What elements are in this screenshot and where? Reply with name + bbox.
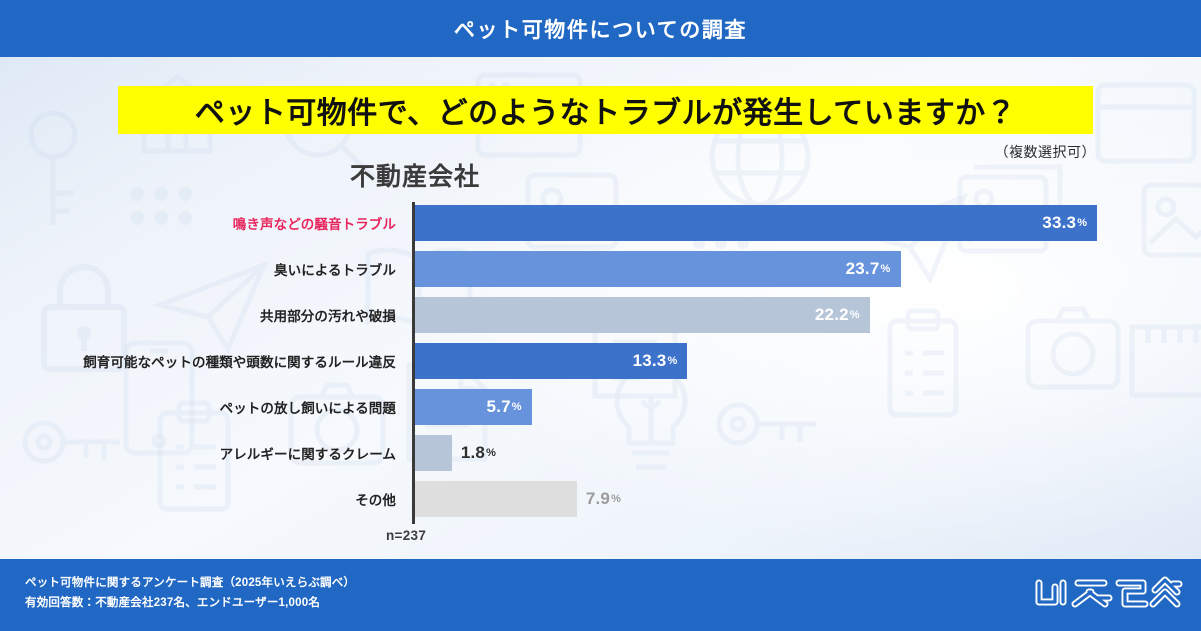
percent-sign: % bbox=[850, 309, 860, 321]
bar-value-number: 1.8 bbox=[461, 443, 485, 463]
percent-sign: % bbox=[881, 263, 891, 275]
bar-value-label: 13.3% bbox=[633, 343, 678, 379]
chart-row: 飼育可能なペットの種類や頭数に関するルール違反13.3% bbox=[0, 343, 1201, 379]
bar-value-number: 23.7 bbox=[846, 259, 880, 279]
bar: 22.2% bbox=[415, 297, 870, 333]
sample-size-label: n=237 bbox=[386, 528, 426, 543]
infographic-slide: ペット可物件についての調査 ペット可物件で、どのようなトラブルが発生していますか… bbox=[0, 0, 1201, 631]
chart-row: その他7.9% bbox=[0, 481, 1201, 517]
percent-sign: % bbox=[486, 447, 496, 459]
category-label: ペットの放し飼いによる問題 bbox=[220, 389, 396, 425]
chart-row: ペットの放し飼いによる問題5.7% bbox=[0, 389, 1201, 425]
bar-value-number: 5.7 bbox=[487, 397, 511, 417]
footer-line-2: 有効回答数：不動産会社237名、エンドユーザー1,000名 bbox=[25, 593, 355, 613]
footer-line-1: ペット可物件に関するアンケート調査（2025年いえらぶ調べ） bbox=[25, 573, 355, 593]
bar-value-label: 5.7% bbox=[487, 389, 522, 425]
bar-value-number: 13.3 bbox=[633, 351, 667, 371]
bar-value-label: 1.8% bbox=[461, 435, 496, 471]
bar: 7.9% bbox=[415, 481, 577, 517]
bar: 5.7% bbox=[415, 389, 532, 425]
percent-sign: % bbox=[667, 355, 677, 367]
question-banner: ペット可物件で、どのようなトラブルが発生していますか？ bbox=[118, 86, 1093, 134]
percent-sign: % bbox=[1077, 217, 1087, 229]
chart-row: アレルギーに関するクレーム1.8% bbox=[0, 435, 1201, 471]
percent-sign: % bbox=[512, 401, 522, 413]
page-title: ペット可物件についての調査 bbox=[454, 14, 747, 44]
category-label: その他 bbox=[355, 481, 396, 517]
page-header: ペット可物件についての調査 bbox=[0, 0, 1201, 57]
category-label: 飼育可能なペットの種類や頭数に関するルール違反 bbox=[83, 343, 396, 379]
page-footer: ペット可物件に関するアンケート調査（2025年いえらぶ調べ） 有効回答数：不動産… bbox=[0, 559, 1201, 631]
bar: 13.3% bbox=[415, 343, 687, 379]
percent-sign: % bbox=[611, 493, 621, 505]
bar: 23.7% bbox=[415, 251, 901, 287]
category-label: アレルギーに関するクレーム bbox=[220, 435, 396, 471]
bar-chart: 不動産会社 鳴き声などの騒音トラブル33.3%臭いによるトラブル23.7%共用部… bbox=[0, 150, 1201, 550]
bar: 1.8% bbox=[415, 435, 452, 471]
chart-row: 共用部分の汚れや破損22.2% bbox=[0, 297, 1201, 333]
bar-value-number: 33.3 bbox=[1042, 213, 1076, 233]
category-label: 共用部分の汚れや破損 bbox=[260, 297, 396, 333]
bar-value-label: 33.3% bbox=[1042, 205, 1087, 241]
footer-note: ペット可物件に関するアンケート調査（2025年いえらぶ調べ） 有効回答数：不動産… bbox=[25, 573, 355, 613]
chart-row: 臭いによるトラブル23.7% bbox=[0, 251, 1201, 287]
bar-value-label: 23.7% bbox=[846, 251, 891, 287]
bar-value-label: 22.2% bbox=[815, 297, 860, 333]
multiple-choice-note: （複数選択可） bbox=[995, 142, 1097, 162]
bar: 33.3% bbox=[415, 205, 1097, 241]
category-label: 臭いによるトラブル bbox=[274, 251, 396, 287]
ielove-logo[interactable] bbox=[1029, 571, 1185, 617]
category-label: 鳴き声などの騒音トラブル bbox=[233, 205, 396, 241]
chart-title: 不動産会社 bbox=[300, 157, 530, 193]
chart-row: 鳴き声などの騒音トラブル33.3% bbox=[0, 205, 1201, 241]
bar-value-label: 7.9% bbox=[586, 481, 621, 517]
bar-value-number: 22.2 bbox=[815, 305, 849, 325]
bar-value-number: 7.9 bbox=[586, 489, 610, 509]
question-text: ペット可物件で、どのようなトラブルが発生していますか？ bbox=[195, 88, 1016, 132]
